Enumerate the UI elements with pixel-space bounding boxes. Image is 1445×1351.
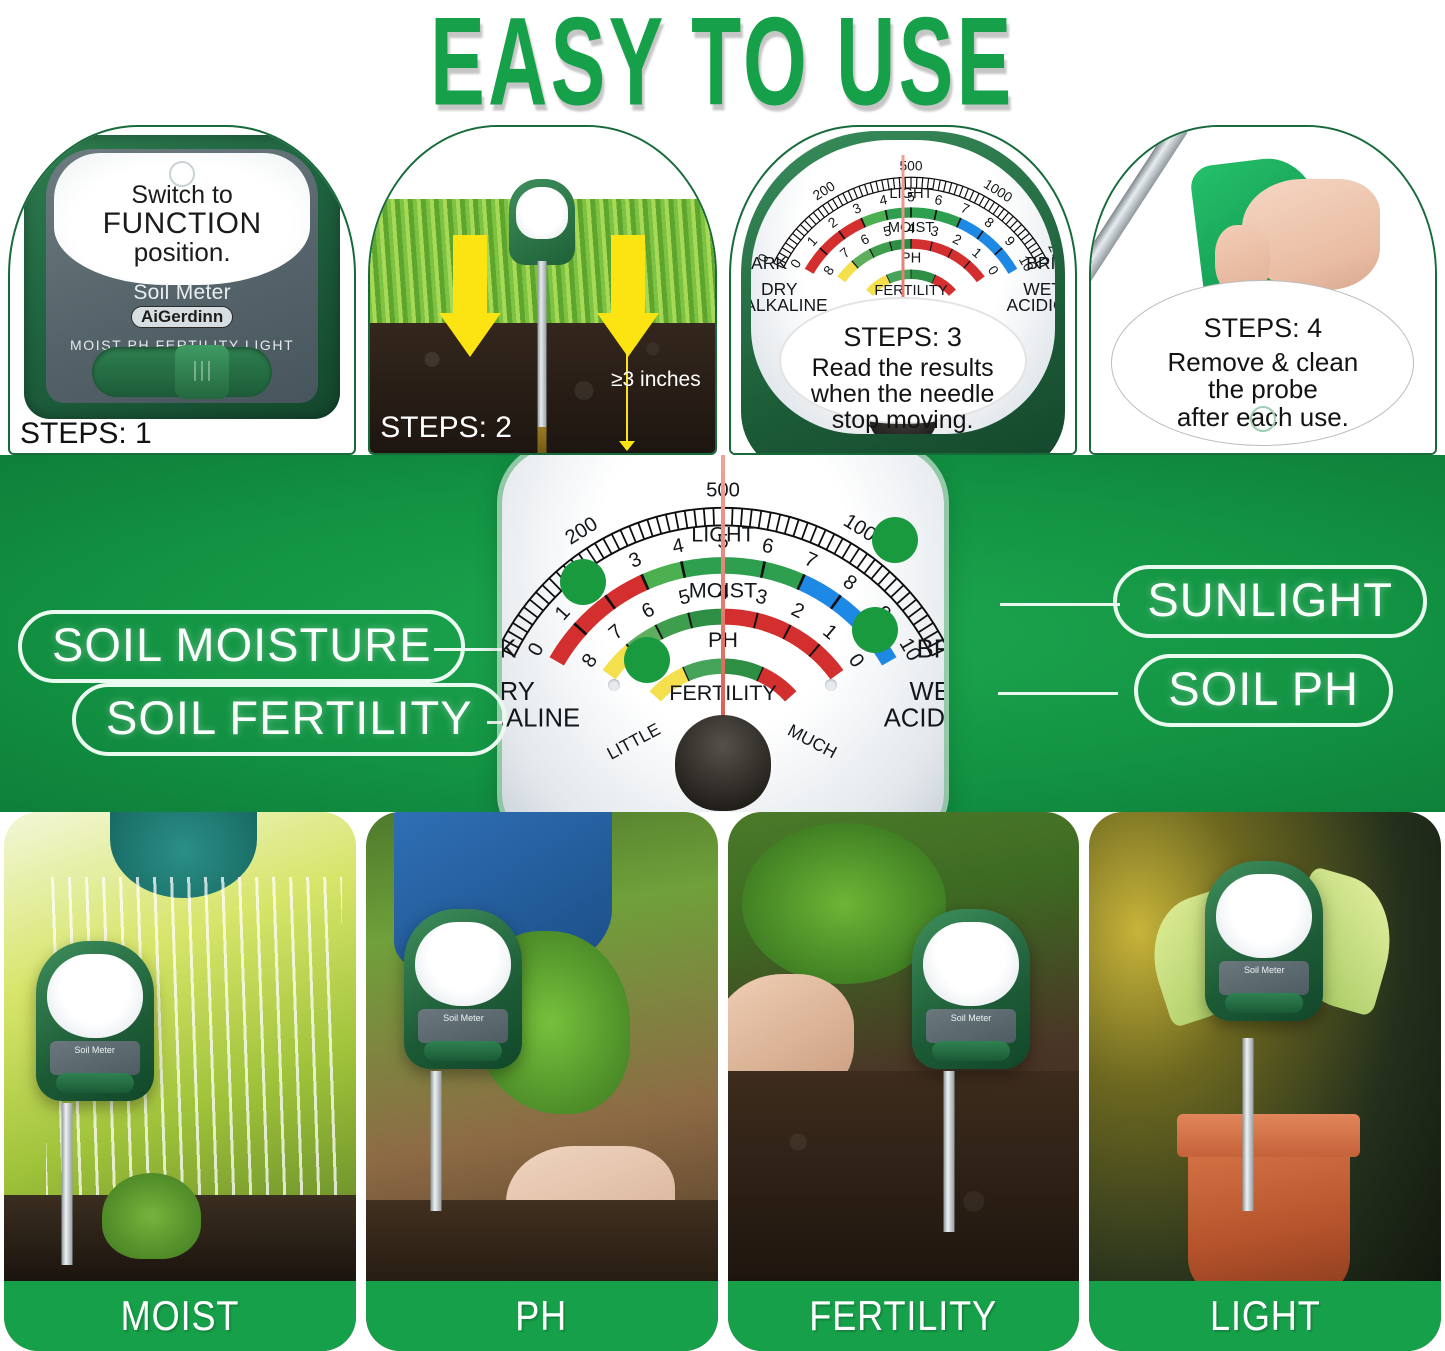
terracotta-pot: [1188, 1135, 1350, 1297]
callout-sunlight[interactable]: SUNLIGHT: [1113, 565, 1427, 638]
step-3-callout-bubble: STEPS: 3 Read the results when the needl…: [779, 297, 1027, 424]
hero-gauge: 020050010002000LIGHTDARKBRIGHT0123456789…: [502, 455, 944, 812]
svg-text:6: 6: [760, 535, 776, 559]
gauge-hub: [675, 715, 771, 811]
brand-name: Soil Meter: [46, 281, 318, 305]
meter-brand-plate: Soil Meter: [50, 1041, 140, 1075]
gauge-screw-right: [825, 679, 837, 691]
step-card-1: Switch to FUNCTION position. Soil Meter …: [8, 125, 356, 455]
brand-mark: AiGerdinn: [131, 306, 233, 328]
device-inner-panel: Switch to FUNCTION position. Soil Meter …: [46, 149, 318, 403]
photo-art-gardener: Soil Meter: [366, 812, 718, 1351]
step-4-caption-line-1: Remove & clean: [1112, 349, 1413, 377]
steps-row: Switch to FUNCTION position. Soil Meter …: [0, 125, 1445, 455]
leader-line-ph: [998, 692, 1118, 695]
gauge-needle: [721, 455, 725, 755]
marker-dot-sunlight: [872, 517, 918, 563]
svg-text:8: 8: [820, 263, 837, 278]
photo-label-moist: MOIST: [121, 1292, 240, 1340]
soil-meter-device: Soil Meter: [912, 909, 1030, 1069]
soil-meter-device: Soil Meter: [404, 909, 522, 1069]
leader-line-sunlight: [1000, 603, 1120, 606]
step-3-caption-line-3: stop moving.: [781, 407, 1025, 433]
svg-text:DRY: DRY: [502, 678, 535, 706]
svg-text:4: 4: [878, 192, 889, 208]
page-title: EASY TO USE: [430, 0, 1014, 134]
callout-soil-fertility[interactable]: SOIL FERTILITY: [72, 683, 507, 756]
svg-text:7: 7: [604, 620, 627, 644]
step-3-caption-line-1: Read the results: [781, 355, 1025, 381]
svg-text:LITTLE: LITTLE: [603, 719, 663, 764]
function-switch: [932, 1041, 1010, 1061]
svg-text:1000: 1000: [981, 176, 1015, 205]
probe-tip: [538, 427, 547, 455]
step-4-caption-line-2: the probe: [1112, 376, 1413, 404]
meter-face: [415, 922, 511, 1006]
svg-text:0: 0: [843, 650, 867, 672]
svg-text:7: 7: [958, 200, 971, 217]
svg-text:ACIDIC: ACIDIC: [883, 704, 943, 732]
step-2-label: STEPS: 2: [380, 411, 512, 445]
svg-text:7: 7: [837, 245, 853, 261]
step-1-caption-line-3: position.: [46, 239, 318, 266]
photo-art-potted-plant: Soil Meter: [1089, 812, 1441, 1351]
step-1-label: STEPS: 1: [20, 417, 152, 451]
knob-grip-icon: [191, 361, 213, 381]
svg-text:2: 2: [787, 599, 807, 624]
svg-text:4: 4: [670, 535, 686, 559]
photo-card-light: Soil Meter LIGHT: [1089, 812, 1441, 1351]
meter-brand-plate: Soil Meter: [418, 1009, 508, 1043]
marker-dot-ph: [852, 607, 898, 653]
meter-brand-plate: Soil Meter: [926, 1009, 1016, 1043]
photo-grid: Soil Meter MOIST Soil Meter PH: [0, 812, 1445, 1351]
step-1-caption: Switch to FUNCTION position.: [46, 183, 318, 266]
hero-band: 020050010002000LIGHTDARKBRIGHT0123456789…: [0, 455, 1445, 812]
svg-text:ALKALINE: ALKALINE: [502, 704, 580, 732]
step-2-scene: ≥3 inches: [370, 127, 714, 453]
svg-text:3: 3: [850, 200, 863, 217]
step-4-callout-bubble: STEPS: 4 Remove & clean the probe after …: [1111, 280, 1414, 446]
photo-label-light: LIGHT: [1210, 1292, 1321, 1340]
meter-face: [516, 187, 568, 239]
callout-soil-moisture[interactable]: SOIL MOISTURE: [18, 610, 465, 683]
svg-text:1: 1: [550, 602, 574, 625]
meter-brand-plate: Soil Meter: [1219, 961, 1309, 995]
marker-dot-moisture: [560, 559, 606, 605]
photo-art-watering: Soil Meter: [4, 812, 356, 1351]
photo-label-band: MOIST: [4, 1281, 356, 1351]
photo-label-fertility: FERTILITY: [810, 1292, 998, 1340]
svg-text:0: 0: [787, 256, 804, 270]
svg-text:6: 6: [858, 231, 872, 248]
svg-text:9: 9: [1001, 233, 1018, 249]
svg-text:6: 6: [933, 192, 944, 208]
meter-probe: [538, 261, 547, 436]
svg-text:DARK: DARK: [751, 253, 787, 273]
meter-face: [923, 922, 1019, 1006]
function-switch: [56, 1073, 134, 1093]
step-4-label: STEPS: 4: [1112, 314, 1413, 343]
function-switch: [424, 1041, 502, 1061]
svg-text:0: 0: [984, 263, 1001, 278]
step-1-caption-line-2: FUNCTION: [46, 209, 318, 240]
svg-text:1: 1: [804, 233, 820, 249]
svg-text:0: 0: [523, 639, 548, 660]
svg-text:4: 4: [907, 221, 915, 236]
photo-art-soil-hands: Soil Meter: [728, 812, 1080, 1351]
step-card-2: ≥3 inches STEPS: 2: [368, 125, 716, 455]
callout-soil-ph[interactable]: SOIL PH: [1134, 654, 1393, 727]
photo-card-moist: Soil Meter MOIST: [4, 812, 356, 1351]
svg-text:2: 2: [825, 214, 840, 231]
device-branding: Soil Meter AiGerdinn: [46, 281, 318, 328]
pot-rim: [1177, 1114, 1360, 1157]
svg-text:8: 8: [838, 571, 860, 595]
meter-probe: [431, 1071, 442, 1211]
svg-text:MUCH: MUCH: [784, 720, 840, 762]
meter-probe: [62, 1103, 73, 1265]
step-3-caption-line-2: when the needle: [781, 381, 1025, 407]
svg-text:DARK: DARK: [502, 636, 517, 664]
photo-card-ph: Soil Meter PH: [366, 812, 718, 1351]
svg-text:8: 8: [981, 214, 996, 231]
depth-text: ≥3 inches: [611, 368, 701, 392]
step-3-label: STEPS: 3: [781, 323, 1025, 351]
svg-text:WET: WET: [909, 678, 943, 706]
step-1-caption-line-1: Switch to: [46, 183, 318, 209]
meter-face: [1216, 874, 1312, 958]
svg-text:5: 5: [907, 190, 915, 205]
step-card-3: 020050010002000LIGHTDARKBRIGHT0123456789…: [729, 125, 1077, 455]
soil-meter-device: Soil Meter: [1205, 861, 1323, 1021]
down-arrow-icon-left: [439, 235, 501, 357]
function-switch[interactable]: [92, 347, 272, 397]
meter-face: [47, 954, 143, 1038]
photo-card-fertility: Soil Meter FERTILITY: [728, 812, 1080, 1351]
step-card-4: STEPS: 4 Remove & clean the probe after …: [1089, 125, 1437, 455]
soil-meter-device: Soil Meter: [36, 941, 154, 1101]
svg-text:6: 6: [638, 599, 658, 624]
marker-dot-fertility: [624, 637, 670, 683]
function-switch: [1225, 993, 1303, 1013]
svg-text:2: 2: [950, 231, 964, 248]
switch-knob[interactable]: [175, 345, 229, 399]
soil-bed: [728, 1071, 1080, 1308]
photo-label-ph: PH: [516, 1292, 568, 1340]
photo-label-band: PH: [366, 1281, 718, 1351]
svg-text:8: 8: [577, 650, 601, 672]
svg-text:7: 7: [801, 548, 820, 573]
svg-text:3: 3: [625, 548, 644, 573]
page-header: EASY TO USE: [0, 0, 1445, 125]
svg-text:1: 1: [818, 620, 841, 644]
photo-label-band: FERTILITY: [728, 1281, 1080, 1351]
gauge-screw-left: [608, 679, 620, 691]
photo-label-band: LIGHT: [1089, 1281, 1441, 1351]
svg-text:200: 200: [810, 178, 838, 203]
hang-hole-icon: [1250, 406, 1276, 432]
plant-leaves: [102, 1173, 200, 1259]
svg-text:1: 1: [969, 245, 985, 261]
probe-rod: [1089, 125, 1190, 289]
device-body: Switch to FUNCTION position. Soil Meter …: [24, 135, 340, 419]
meter-probe: [1242, 1038, 1253, 1210]
soil-meter-device: [509, 179, 575, 265]
meter-probe: [944, 1071, 955, 1233]
